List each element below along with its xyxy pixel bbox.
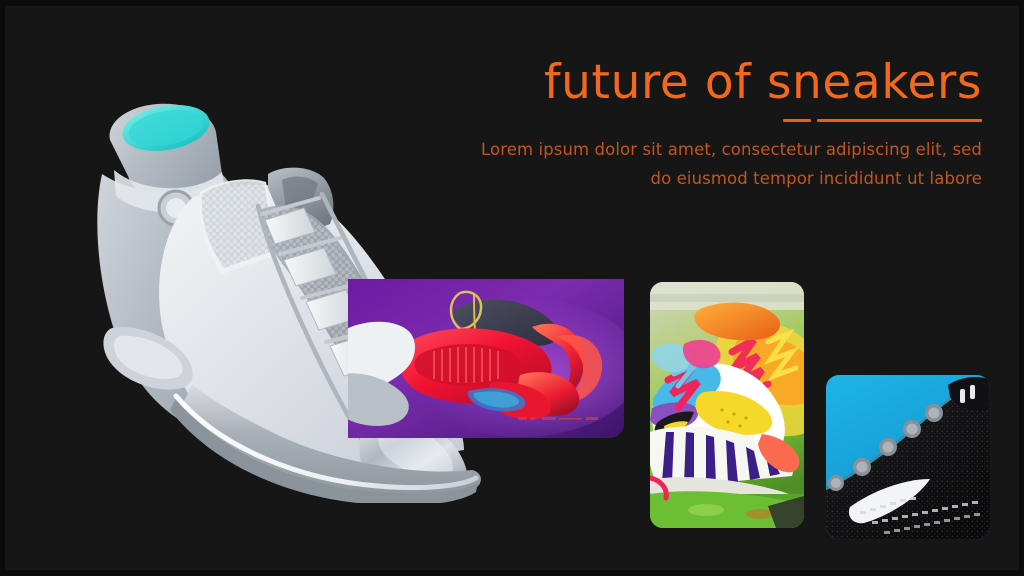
subtitle-line-1: Lorem ipsum dolor sit amet, consectetur … bbox=[470, 136, 982, 165]
frame-edge-top bbox=[0, 0, 1024, 6]
thumbnail-black-nike-sneaker[interactable] bbox=[826, 375, 990, 539]
thumbnail-colorful-striped-sneakers[interactable] bbox=[650, 282, 804, 528]
frame-edge-right bbox=[1019, 0, 1024, 576]
title-divider bbox=[470, 119, 982, 122]
divider-dash bbox=[783, 119, 811, 122]
slide-canvas: future of sneakers Lorem ipsum dolor sit… bbox=[0, 0, 1024, 576]
page-title: future of sneakers bbox=[470, 58, 982, 107]
divider-line bbox=[817, 119, 982, 122]
frame-edge-bottom bbox=[0, 570, 1024, 576]
text-block: future of sneakers Lorem ipsum dolor sit… bbox=[470, 58, 982, 194]
thumbnail-red-concept-sneaker[interactable] bbox=[348, 279, 624, 438]
subtitle-line-2: do eiusmod tempor incididunt ut labore bbox=[470, 165, 982, 194]
frame-edge-left bbox=[0, 0, 5, 576]
subtitle: Lorem ipsum dolor sit amet, consectetur … bbox=[470, 136, 982, 194]
